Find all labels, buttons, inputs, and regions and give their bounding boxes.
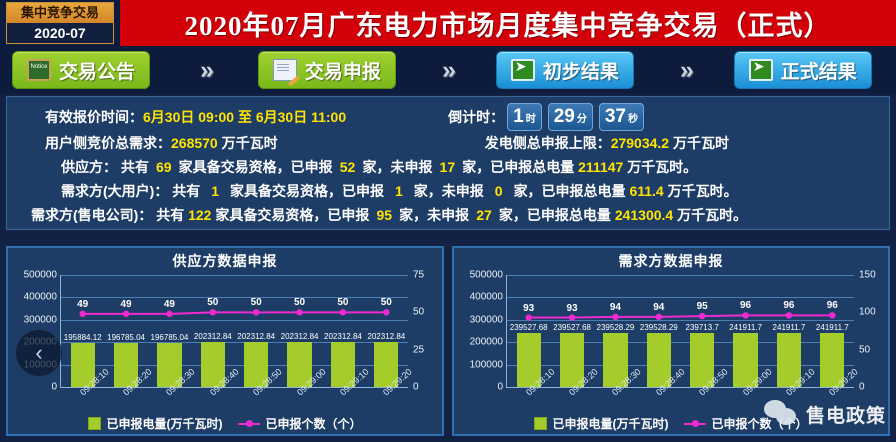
notice-board-icon bbox=[27, 59, 51, 81]
retailer-declared: 95 bbox=[373, 203, 395, 227]
supply-undeclared: 17 bbox=[436, 155, 458, 179]
period-badge: 集中竞争交易 2020-07 bbox=[6, 2, 114, 44]
line-value-label: 50 bbox=[251, 297, 262, 308]
bar-value-label: 202312.84 bbox=[194, 332, 232, 341]
y2-axis-tick: 0 bbox=[413, 382, 419, 393]
generation-cap-unit: 万千瓦时 bbox=[673, 135, 729, 151]
y-axis-tick: 400000 bbox=[470, 292, 503, 303]
bar-value-label: 202312.84 bbox=[367, 332, 405, 341]
legend-bar-supply: 已申报电量(万千瓦时) bbox=[88, 415, 222, 432]
line-value-label: 50 bbox=[294, 297, 305, 308]
badge-period: 2020-07 bbox=[7, 23, 113, 43]
retailer-total-suffix: 家具备交易资格，已申报 bbox=[215, 207, 369, 223]
bar-value-label: 241911.7 bbox=[729, 323, 762, 332]
retailer-unit: 万千瓦时。 bbox=[677, 207, 747, 223]
legend-line-supply: 已申报个数（个） bbox=[238, 415, 361, 432]
y2-axis-tick: 50 bbox=[859, 344, 870, 355]
large-user-undeclared-suffix: 家，已申报总电量 bbox=[514, 183, 626, 199]
y2-axis-tick: 0 bbox=[859, 382, 865, 393]
user-demand-unit: 万千瓦时 bbox=[222, 135, 278, 151]
countdown-minutes-value: 29 bbox=[554, 106, 575, 127]
y2-axis-tick: 50 bbox=[413, 307, 424, 318]
demand-chart-title: 需求方数据申报 bbox=[454, 248, 888, 271]
supply-total: 69 bbox=[153, 155, 175, 179]
supply-declared: 52 bbox=[337, 155, 359, 179]
user-demand: 用户侧竞价总需求：268570 万千瓦时 bbox=[17, 131, 278, 155]
line-value-label: 96 bbox=[783, 300, 794, 311]
bar-value-label: 202312.84 bbox=[281, 332, 319, 341]
line-value-label: 49 bbox=[121, 299, 132, 310]
valid-time-value: 6月30日 09:00 至 6月30日 11:00 bbox=[143, 105, 346, 129]
step-button-announcement[interactable]: 交易公告 bbox=[12, 51, 150, 89]
bar-value-label: 241911.7 bbox=[773, 323, 806, 332]
large-user-stats-row: 需求方(大用户)： 共有 1 家具备交易资格，已申报 1 家，未申报 0 家，已… bbox=[17, 179, 879, 203]
bar-value-label: 202312.84 bbox=[237, 332, 275, 341]
watermark: 售电政策 bbox=[764, 400, 886, 428]
y-axis-tick: 0 bbox=[497, 382, 503, 393]
supply-chart-legend: 已申报电量(万千瓦时) 已申报个数（个） bbox=[8, 415, 442, 432]
y-axis-tick: 300000 bbox=[470, 314, 503, 325]
supply-energy: 211147 bbox=[578, 155, 623, 179]
generation-cap: 发电侧总申报上限：279034.2 万千瓦时 bbox=[485, 131, 879, 155]
bar-value-label: 241911.7 bbox=[816, 323, 849, 332]
countdown-seconds-unit: 秒 bbox=[628, 114, 638, 125]
bar-value-label: 239527.68 bbox=[553, 323, 591, 332]
large-user-total: 1 bbox=[204, 179, 226, 203]
totals-row: 用户侧竞价总需求：268570 万千瓦时 发电侧总申报上限：279034.2 万… bbox=[17, 131, 879, 155]
y-axis-tick: 300000 bbox=[24, 314, 57, 325]
countdown-seconds: 37秒 bbox=[599, 103, 644, 131]
y2-axis-tick: 100 bbox=[859, 307, 876, 318]
bar-value-label: 195884.12 bbox=[64, 333, 102, 342]
user-demand-label: 用户侧竞价总需求： bbox=[45, 135, 171, 151]
bar-value-label: 239528.29 bbox=[640, 323, 678, 332]
large-user-energy: 611.4 bbox=[629, 179, 663, 203]
y-axis-tick: 500000 bbox=[24, 270, 57, 281]
line-value-label: 49 bbox=[164, 299, 175, 310]
watermark-text: 售电政策 bbox=[806, 401, 886, 428]
line-value-label: 49 bbox=[77, 299, 88, 310]
supply-unit: 万千瓦时。 bbox=[627, 159, 697, 175]
document-pencil-icon bbox=[273, 59, 297, 81]
large-user-name: 需求方(大用户)： bbox=[61, 183, 168, 199]
large-user-undeclared: 0 bbox=[488, 179, 510, 203]
countdown-label: 倒计时： bbox=[448, 105, 504, 129]
retailer-undeclared: 27 bbox=[473, 203, 495, 227]
line-value-label: 95 bbox=[697, 301, 708, 312]
supply-chart: 供应方数据申报 01000002000003000004000005000000… bbox=[6, 246, 444, 436]
line-value-label: 94 bbox=[610, 302, 621, 313]
line-value-label: 96 bbox=[827, 300, 838, 311]
legend-bar-label: 已申报电量(万千瓦时) bbox=[106, 415, 222, 432]
step-button-declaration[interactable]: 交易申报 bbox=[258, 51, 396, 89]
retailer-energy: 241300.4 bbox=[615, 203, 673, 227]
supply-stats-row: 供应方： 共有 69 家具备交易资格，已申报 52 家，未申报 17 家，已申报… bbox=[17, 155, 879, 179]
legend-bar-swatch-icon bbox=[88, 417, 101, 430]
bar-value-label: 202312.84 bbox=[324, 332, 362, 341]
retailer-declared-suffix: 家，未申报 bbox=[399, 207, 469, 223]
line-value-label: 50 bbox=[381, 297, 392, 308]
retailer-total-prefix: 共有 bbox=[156, 207, 184, 223]
y-axis-tick: 0 bbox=[51, 382, 57, 393]
supply-undeclared-suffix: 家，已申报总电量 bbox=[462, 159, 574, 175]
supply-declared-suffix: 家，未申报 bbox=[362, 159, 432, 175]
line-value-label: 50 bbox=[207, 297, 218, 308]
title-bar: 2020年07月广东电力市场月度集中竞争交易（正式） bbox=[120, 0, 896, 46]
legend-line-label: 已申报个数（个） bbox=[265, 415, 361, 432]
bar-group: 239527.68 bbox=[507, 275, 550, 387]
large-user-declared-suffix: 家，未申报 bbox=[414, 183, 484, 199]
line-value-label: 96 bbox=[740, 300, 751, 311]
chevron-right-icon-2: » bbox=[438, 56, 454, 85]
step-nav: 交易公告 » 交易申报 » 初步结果 » 正式结果 bbox=[0, 46, 896, 94]
bar-value-label: 196785.04 bbox=[107, 333, 145, 342]
line-value-label: 50 bbox=[337, 297, 348, 308]
countdown-hours-unit: 时 bbox=[526, 114, 536, 125]
generation-cap-label: 发电侧总申报上限： bbox=[485, 135, 611, 151]
supply-name: 供应方： bbox=[61, 159, 117, 175]
countdown-hours: 1时 bbox=[507, 103, 542, 131]
badge-title: 集中竞争交易 bbox=[7, 3, 113, 23]
countdown: 倒计时： 1时 29分 37秒 bbox=[448, 103, 879, 131]
y2-axis-tick: 25 bbox=[413, 344, 424, 355]
bar-value-label: 196785.04 bbox=[151, 333, 189, 342]
bar-group: 241911.7 bbox=[724, 275, 767, 387]
countdown-seconds-value: 37 bbox=[605, 106, 626, 127]
summary-panel: 有效报价时间： 6月30日 09:00 至 6月30日 11:00 倒计时： 1… bbox=[6, 96, 890, 230]
large-user-declared: 1 bbox=[388, 179, 410, 203]
prev-page-button[interactable]: ‹ bbox=[16, 330, 62, 376]
countdown-minutes: 29分 bbox=[548, 103, 593, 131]
supply-total-suffix: 家具备交易资格，已申报 bbox=[179, 159, 333, 175]
retailer-total: 122 bbox=[188, 203, 211, 227]
valid-time-row: 有效报价时间： 6月30日 09:00 至 6月30日 11:00 倒计时： 1… bbox=[17, 103, 879, 131]
generation-cap-value: 279034.2 bbox=[611, 135, 669, 151]
bar-value-label: 239528.29 bbox=[597, 323, 635, 332]
retailer-stats-row: 需求方(售电公司)： 共有 122 家具备交易资格，已申报 95 家，未申报 2… bbox=[17, 203, 879, 227]
step-button-preliminary-result[interactable]: 初步结果 bbox=[496, 51, 634, 89]
page-header: 集中竞争交易 2020-07 2020年07月广东电力市场月度集中竞争交易（正式… bbox=[0, 0, 896, 46]
trading-dashboard: 集中竞争交易 2020-07 2020年07月广东电力市场月度集中竞争交易（正式… bbox=[0, 0, 896, 442]
bar-value-label: 239527.68 bbox=[510, 323, 548, 332]
legend-line-swatch-icon bbox=[238, 418, 260, 430]
charts-area: 供应方数据申报 01000002000003000004000005000000… bbox=[6, 246, 890, 436]
step-label-final-result: 正式结果 bbox=[781, 57, 857, 84]
large-user-total-suffix: 家具备交易资格，已申报 bbox=[230, 183, 384, 199]
line-value-label: 93 bbox=[523, 303, 534, 314]
countdown-minutes-unit: 分 bbox=[577, 114, 587, 125]
legend-line-swatch-icon-2 bbox=[684, 418, 706, 430]
countdown-hours-value: 1 bbox=[513, 106, 524, 127]
chart-arrow-icon-2 bbox=[749, 59, 773, 81]
retailer-name: 需求方(售电公司)： bbox=[31, 207, 152, 223]
page-title: 2020年07月广东电力市场月度集中竞争交易（正式） bbox=[185, 4, 832, 43]
legend-bar-swatch-icon-2 bbox=[534, 417, 547, 430]
supply-chart-title: 供应方数据申报 bbox=[8, 248, 442, 271]
y-axis-tick: 200000 bbox=[470, 337, 503, 348]
chevron-right-icon-1: » bbox=[196, 56, 212, 85]
line-value-label: 94 bbox=[653, 302, 664, 313]
y-axis-tick: 500000 bbox=[470, 270, 503, 281]
step-label-preliminary-result: 初步结果 bbox=[543, 57, 619, 84]
y2-axis-tick: 75 bbox=[413, 270, 424, 281]
chevron-right-icon-3: » bbox=[676, 56, 692, 85]
line-value-label: 93 bbox=[567, 303, 578, 314]
legend-bar-demand: 已申报电量(万千瓦时) bbox=[534, 415, 668, 432]
step-label-announcement: 交易公告 bbox=[59, 57, 135, 84]
y-axis-tick: 100000 bbox=[470, 359, 503, 370]
valid-time-label: 有效报价时间： bbox=[17, 105, 143, 129]
bar-group: 202312.84 bbox=[278, 275, 321, 387]
large-user-unit: 万千瓦时。 bbox=[668, 183, 738, 199]
legend-bar-label-2: 已申报电量(万千瓦时) bbox=[552, 415, 668, 432]
bar-value-label: 239713.7 bbox=[686, 323, 719, 332]
step-label-declaration: 交易申报 bbox=[305, 57, 381, 84]
large-user-total-prefix: 共有 bbox=[172, 183, 200, 199]
user-demand-value: 268570 bbox=[171, 135, 218, 151]
supply-total-prefix: 共有 bbox=[121, 159, 149, 175]
chart-arrow-icon-1 bbox=[511, 59, 535, 81]
y2-axis-tick: 150 bbox=[859, 270, 876, 281]
retailer-undeclared-suffix: 家，已申报总电量 bbox=[499, 207, 611, 223]
wechat-icon bbox=[764, 400, 802, 428]
bar-group: 195884.12 bbox=[61, 275, 104, 387]
step-button-final-result[interactable]: 正式结果 bbox=[734, 51, 872, 89]
y-axis-tick: 400000 bbox=[24, 292, 57, 303]
